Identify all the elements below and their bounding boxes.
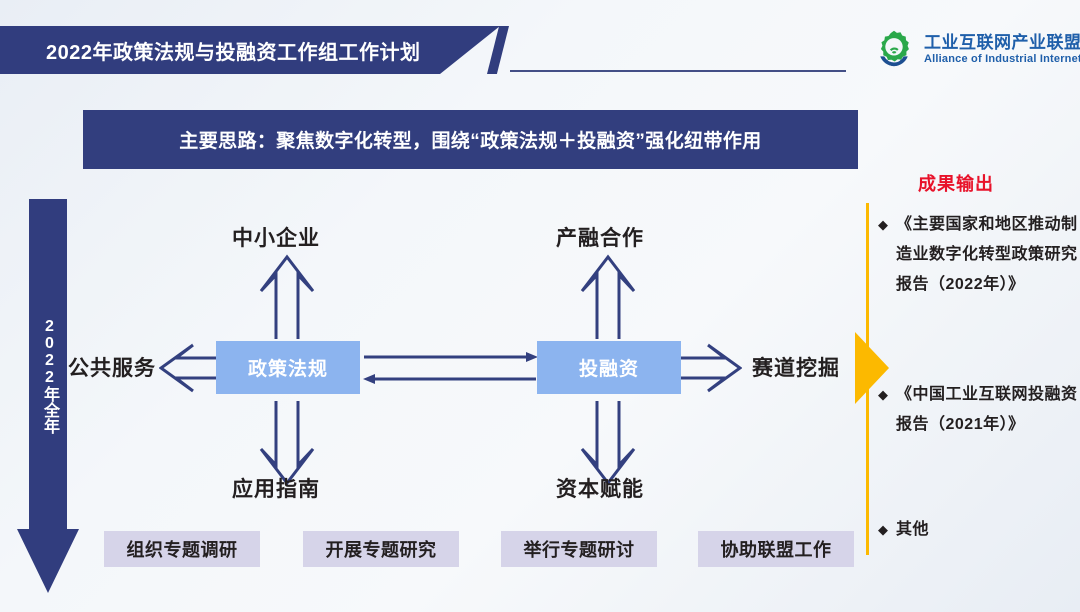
logo-text-block: 工业互联网产业联盟 Alliance of Industrial Interne… bbox=[924, 34, 1080, 65]
action-box-seminar-label: 举行专题研讨 bbox=[524, 536, 635, 562]
diagram-node-policy[interactable]: 政策法规 bbox=[216, 341, 360, 394]
action-box-seminar[interactable]: 举行专题研讨 bbox=[501, 531, 657, 567]
timeline-label: 2022年全年 bbox=[30, 296, 58, 456]
page-title: 2022年政策法规与投融资工作组工作计划 bbox=[46, 36, 421, 65]
diamond-bullet-icon: ◆ bbox=[878, 210, 888, 240]
arrow-policy-to-public-service-icon bbox=[159, 343, 221, 393]
output-list-item: ◆ 《中国工业互联网投融资报告（2021年）》 bbox=[878, 380, 1078, 440]
diamond-bullet-icon: ◆ bbox=[878, 380, 888, 410]
action-box-research[interactable]: 开展专题研究 bbox=[303, 531, 459, 567]
diamond-bullet-icon: ◆ bbox=[878, 515, 888, 545]
arrow-policy-to-sme-icon bbox=[257, 253, 317, 339]
output-item-text: 《主要国家和地区推动制造业数字化转型政策研究报告（2022年）》 bbox=[896, 210, 1078, 300]
main-idea-banner: 主要思路：聚焦数字化转型，围绕“政策法规＋投融资”强化纽带作用 bbox=[83, 110, 858, 169]
diagram-label-public-service: 公共服务 bbox=[68, 352, 156, 382]
action-box-research-label: 开展专题研究 bbox=[326, 536, 437, 562]
action-box-alliance-support-label: 协助联盟工作 bbox=[721, 536, 832, 562]
diagram-label-sme: 中小企业 bbox=[232, 222, 320, 252]
action-box-alliance-support[interactable]: 协助联盟工作 bbox=[698, 531, 854, 567]
logo-english-name: Alliance of Industrial Internet bbox=[924, 54, 1080, 66]
diagram-node-invest[interactable]: 投融资 bbox=[537, 341, 681, 394]
diagram-label-track: 赛道挖掘 bbox=[752, 352, 840, 382]
arrow-invest-to-track-icon bbox=[680, 343, 742, 393]
diagram-label-cooperation: 产融合作 bbox=[556, 222, 644, 252]
output-section-title: 成果输出 bbox=[918, 170, 994, 196]
gear-wifi-logo-icon bbox=[872, 28, 916, 72]
slide-title-band: 2022年政策法规与投融资工作组工作计划 bbox=[0, 26, 500, 74]
diagram-node-invest-label: 投融资 bbox=[579, 354, 639, 381]
output-item-text: 《中国工业互联网投融资报告（2021年）》 bbox=[896, 380, 1078, 440]
logo-chinese-name: 工业互联网产业联盟 bbox=[924, 34, 1080, 52]
main-idea-text: 主要思路：聚焦数字化转型，围绕“政策法规＋投融资”强化纽带作用 bbox=[179, 126, 761, 153]
arrow-invest-to-cooperation-icon bbox=[578, 253, 638, 339]
organization-logo: 工业互联网产业联盟 Alliance of Industrial Interne… bbox=[872, 28, 1080, 72]
output-list-item: ◆ 其他 bbox=[878, 515, 1078, 545]
diagram-node-policy-label: 政策法规 bbox=[248, 354, 328, 381]
output-list-item: ◆ 《主要国家和地区推动制造业数字化转型政策研究报告（2022年）》 bbox=[878, 210, 1078, 300]
slide-canvas: 2022年政策法规与投融资工作组工作计划 工业互联网产业联盟 Alliance … bbox=[0, 0, 1080, 612]
header-horizontal-rule bbox=[510, 70, 846, 72]
action-box-survey-label: 组织专题调研 bbox=[127, 536, 238, 562]
action-box-survey[interactable]: 组织专题调研 bbox=[104, 531, 260, 567]
output-item-text: 其他 bbox=[896, 515, 929, 545]
diagram-label-guide: 应用指南 bbox=[232, 473, 320, 503]
arrow-policy-invest-bidirectional-icon bbox=[362, 347, 538, 389]
diagram-label-capital: 资本赋能 bbox=[556, 473, 644, 503]
